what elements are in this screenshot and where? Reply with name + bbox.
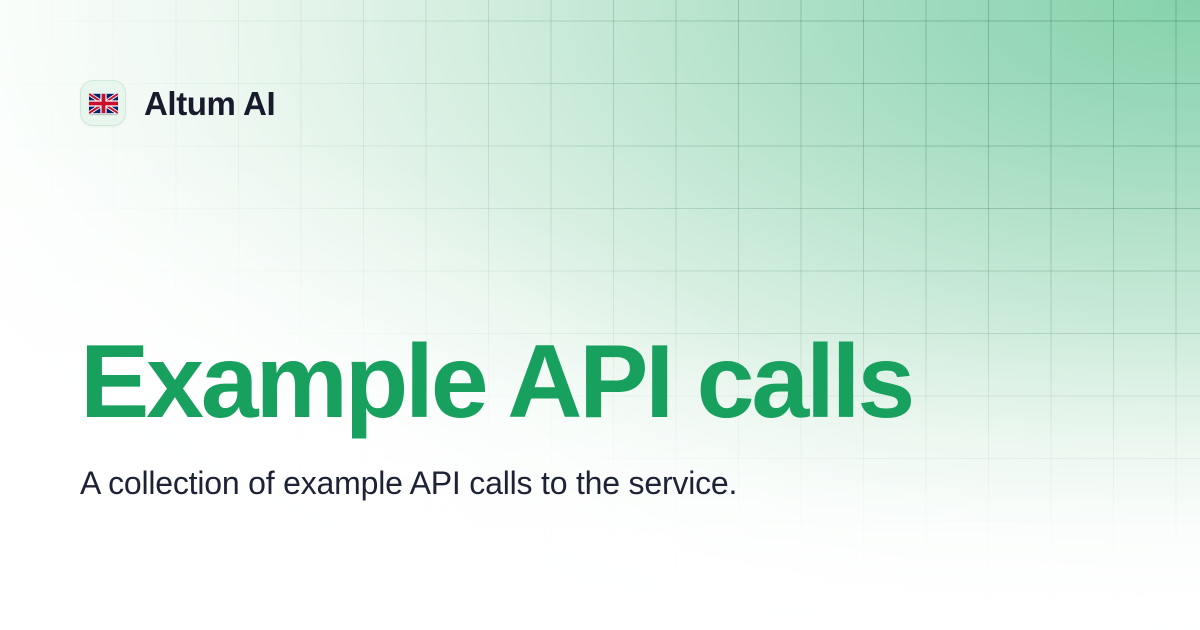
page-subtitle: A collection of example API calls to the… (80, 462, 760, 504)
card-content: Altum AI Example API calls A collection … (0, 0, 1200, 630)
page-title: Example API calls (80, 330, 910, 434)
brand-name: Altum AI (144, 87, 275, 120)
brand-lockup: Altum AI (80, 80, 275, 126)
hero-text-block: Example API calls A collection of exampl… (80, 330, 910, 504)
uk-flag-icon (80, 80, 126, 126)
og-card: Altum AI Example API calls A collection … (0, 0, 1200, 630)
